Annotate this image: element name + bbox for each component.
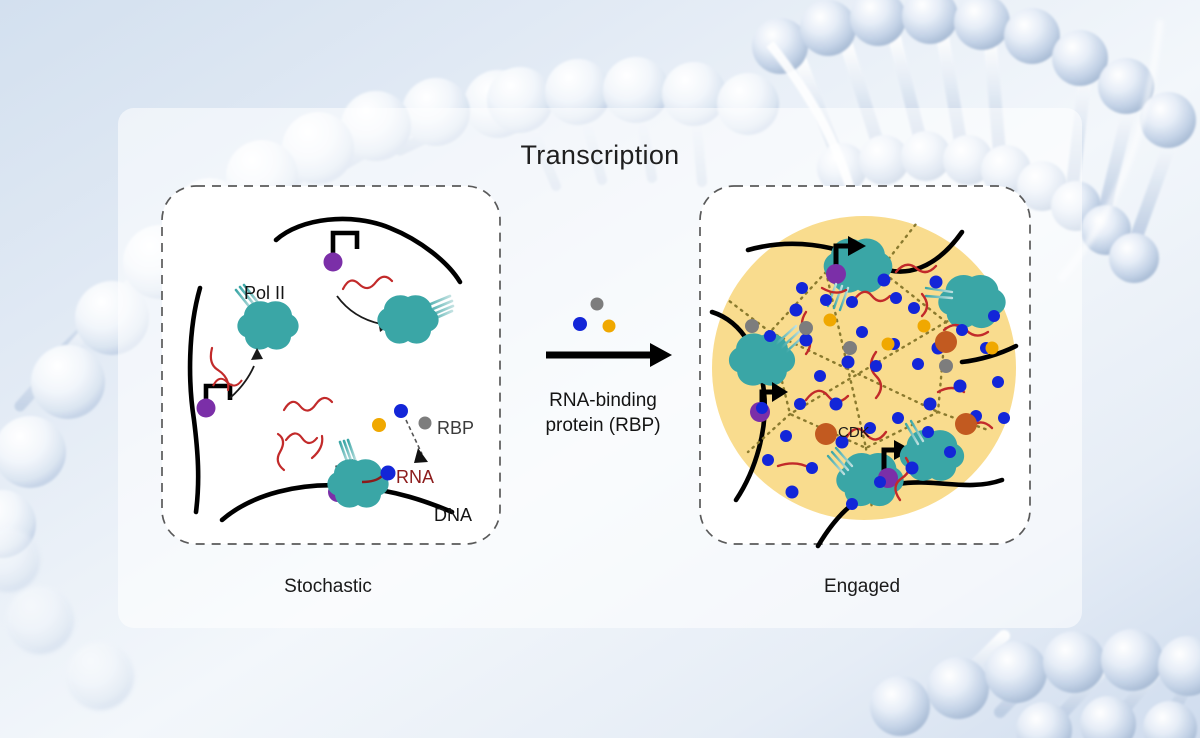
transition-caption: RNA-binding protein (RBP) [508,388,698,438]
panel-stochastic [162,186,500,544]
promoter-dot [826,264,846,284]
label-pol-ii: Pol II [244,283,285,304]
promoter-dot [324,253,343,272]
transition-group [546,298,672,368]
figure-stage: Transcription RNA-binding protein (RBP) … [0,0,1200,738]
label-dna: DNA [434,505,472,526]
panel-engaged [700,186,1030,546]
label-cdk: CDK [838,424,870,441]
promoter-dot [197,399,216,418]
diagram-artwork [0,0,1200,738]
label-rbp: RBP [437,418,474,439]
rbp-blue-dot [381,466,396,481]
rbp-blue-dot [573,317,587,331]
rbp-gray-dot [591,298,604,311]
transition-caption-line2: protein (RBP) [545,415,660,436]
transition-caption-line1: RNA-binding [549,390,657,411]
transition-arrow [546,343,672,367]
rbp-blue-dot [394,404,408,418]
page-title: Transcription [0,140,1200,171]
panel-caption-stochastic: Stochastic [178,576,478,598]
rbp-gray-dot [419,417,432,430]
panel-caption-engaged: Engaged [712,576,1012,598]
rbp-yellow-dot [372,418,386,432]
rbp-yellow-dot [603,320,616,333]
label-rna: RNA [396,467,434,488]
